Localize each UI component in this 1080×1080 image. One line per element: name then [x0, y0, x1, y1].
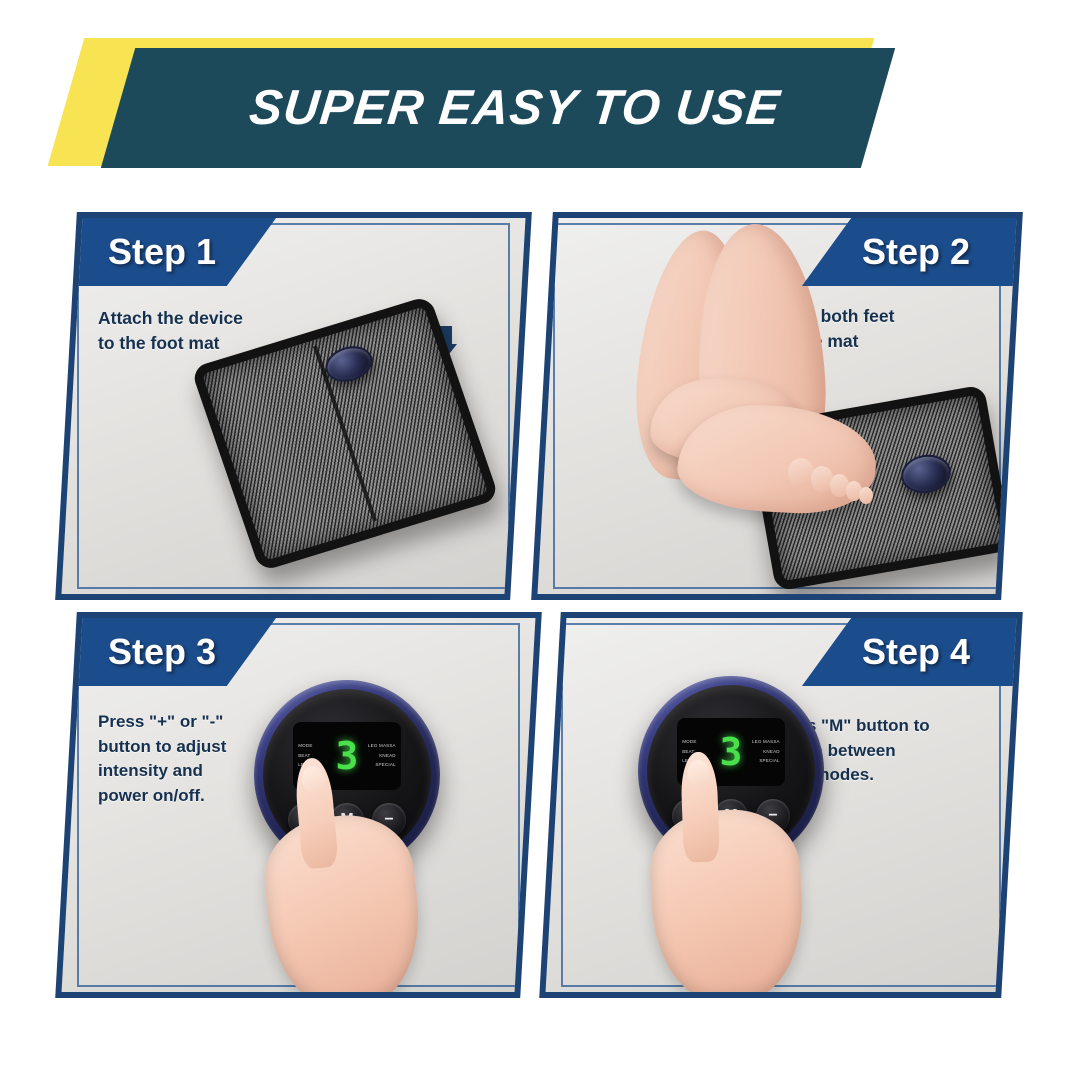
step-tab-4: Step 4	[802, 618, 1023, 686]
step-panel-3: Step 3 Press "+" or "-" button to adjust…	[55, 612, 542, 998]
step-tab-2-label: Step 2	[862, 231, 970, 273]
step-panel-3-content: Step 3 Press "+" or "-" button to adjust…	[72, 618, 525, 992]
display-label: KNEAD	[751, 750, 780, 755]
toes-image	[786, 454, 876, 510]
display-label: SPECIAL	[751, 759, 780, 764]
display-labels-right: LEG MASSA KNEAD SPECIAL	[367, 744, 396, 768]
step-tab-2: Step 2	[802, 218, 1023, 286]
display-label: KNEAD	[367, 754, 396, 759]
hand-image	[647, 806, 807, 998]
step-panel-2: Step 2 Place both feet on the mat	[531, 212, 1023, 600]
page-title: SUPER EASY TO USE	[144, 48, 887, 168]
header-banner: SUPER EASY TO USE	[0, 0, 1080, 190]
display-value: 3	[720, 735, 743, 769]
step-tab-3-label: Step 3	[108, 631, 216, 673]
display-label: MODE	[298, 744, 327, 749]
display-labels-right: LEG MASSA KNEAD SPECIAL	[751, 740, 780, 764]
step-panel-2-content: Step 2 Place both feet on the mat	[548, 218, 1006, 594]
step-tab-3: Step 3	[55, 618, 276, 686]
display-label: MODE	[682, 740, 711, 745]
display-label: SPECIAL	[367, 763, 396, 768]
step-panel-1: Step 1 Attach the device to the foot mat	[55, 212, 532, 600]
steps-grid: Step 1 Attach the device to the foot mat…	[66, 212, 1012, 998]
fingernail	[301, 765, 325, 793]
step-tab-1-label: Step 1	[108, 231, 216, 273]
step-panel-1-content: Step 1 Attach the device to the foot mat	[72, 218, 515, 594]
display-value: 3	[336, 739, 359, 773]
display-label: LEG MASSA	[751, 740, 780, 745]
step-panel-4-content: Step 4 Press "M" button to switch betwee…	[556, 618, 1006, 992]
step-tab-1: Step 1	[55, 218, 276, 286]
step-panel-4: Step 4 Press "M" button to switch betwee…	[539, 612, 1023, 998]
step-tab-4-label: Step 4	[862, 631, 970, 673]
fingernail	[687, 760, 710, 787]
display-label: LEG MASSA	[367, 744, 396, 749]
